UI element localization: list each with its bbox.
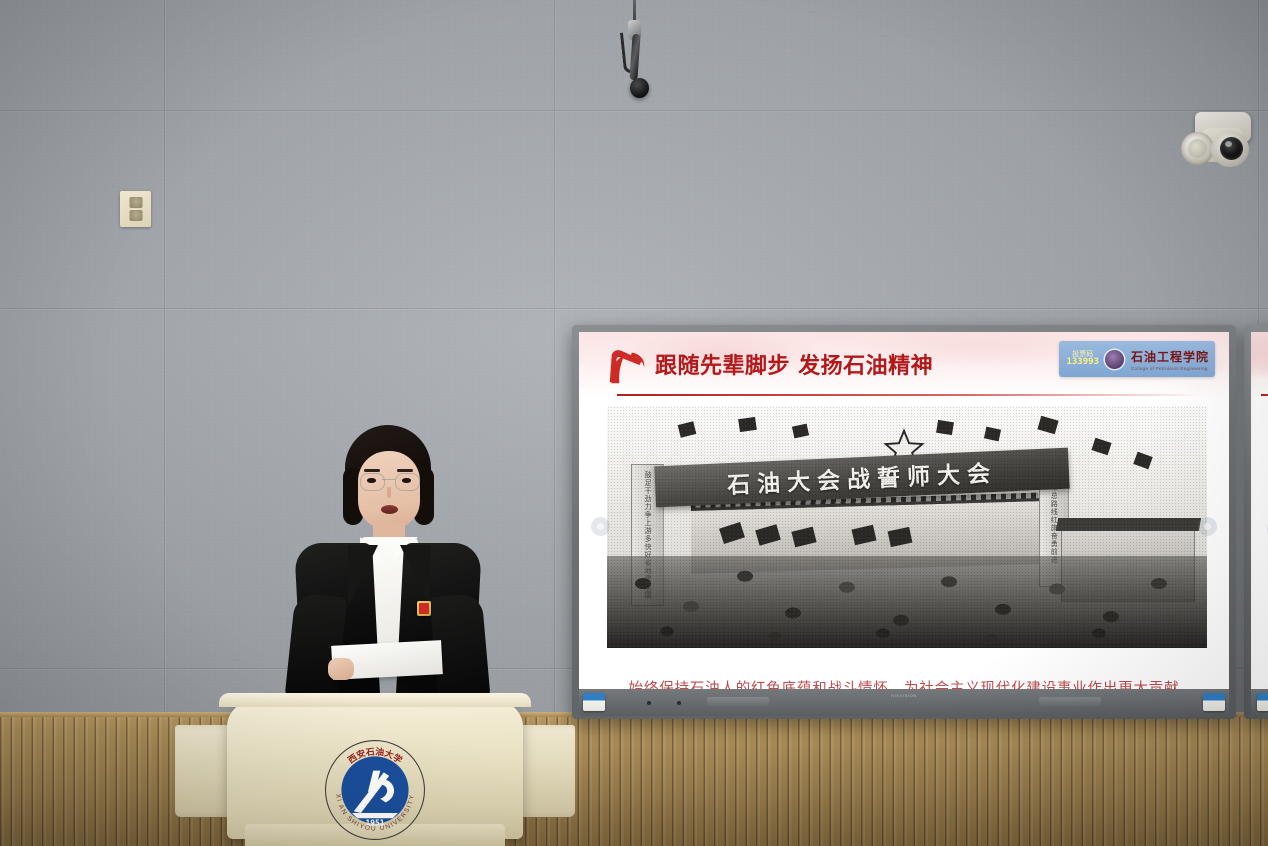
presentation-slide: 跟随先辈脚步 发扬石油精神 投票码 133993 石油工程学院 College … xyxy=(579,332,1229,712)
presenter-lapel xyxy=(400,545,430,607)
slide-divider-rule xyxy=(1261,394,1268,396)
screenshot-root: 跟随先辈脚步 发扬石油精神 投票码 133993 石油工程学院 College … xyxy=(0,0,1268,846)
photo-film-grain xyxy=(607,406,1207,648)
asset-sticker-left xyxy=(583,693,605,711)
display-bottom-bezel: HIKVISION · · · · · · · xyxy=(579,689,1229,716)
vote-code-block: 投票码 133993 xyxy=(1066,351,1099,368)
security-camera xyxy=(1181,112,1253,168)
college-name-block: 石油工程学院 College of Petroleum Engineering xyxy=(1130,348,1209,371)
lectern-top-lip xyxy=(219,693,531,707)
display-brand-dots: · · · · · · · xyxy=(879,700,929,705)
presenter-eye xyxy=(402,478,411,483)
slide-title: 跟随先辈脚步 发扬石油精神 xyxy=(655,348,933,380)
presenter-lapel xyxy=(348,545,378,607)
presenter-mouth xyxy=(381,505,398,514)
wall-outlet[interactable] xyxy=(120,191,151,227)
outlet-socket xyxy=(129,210,142,221)
secondary-display-bezel xyxy=(1251,689,1268,716)
display-screen[interactable]: 跟随先辈脚步 发扬石油精神 投票码 133993 石油工程学院 College … xyxy=(579,332,1229,712)
vote-code-value: 133993 xyxy=(1066,358,1099,367)
microphone-body xyxy=(629,34,640,80)
secondary-display[interactable] xyxy=(1244,325,1268,719)
asset-sticker-right xyxy=(1203,693,1225,711)
camera-ir-module xyxy=(1181,132,1214,165)
previous-slide-control[interactable] xyxy=(591,517,610,536)
party-emblem-pin-icon xyxy=(417,601,431,616)
speaker-vent xyxy=(707,697,769,706)
presenter-eyebrow xyxy=(364,469,380,472)
presenter xyxy=(288,425,488,725)
speaker-vent xyxy=(1039,697,1101,706)
slide-header-blobs xyxy=(1251,332,1268,412)
power-led-icon xyxy=(677,701,681,705)
hanging-microphone xyxy=(618,0,654,106)
camera-lens xyxy=(1220,137,1243,160)
ir-receiver-icon xyxy=(647,701,651,705)
presenter-eye xyxy=(367,478,376,483)
lectern: 1951 西安石油大学 XI AN SHIYOU UNIVERSITY xyxy=(175,693,575,846)
presenter-eyebrow xyxy=(397,469,413,472)
display-brand: HIKVISION xyxy=(891,693,917,698)
secondary-display-screen[interactable] xyxy=(1251,332,1268,712)
next-slide-control[interactable] xyxy=(1198,517,1217,536)
glasses-bridge xyxy=(382,479,395,480)
presenter-nose xyxy=(387,487,391,498)
vote-code-badge: 投票码 133993 石油工程学院 College of Petroleum E… xyxy=(1059,341,1215,377)
college-name-en: College of Petroleum Engineering xyxy=(1131,366,1209,371)
party-emblem-icon xyxy=(603,344,649,388)
college-name-cn: 石油工程学院 xyxy=(1131,348,1209,365)
presenter-hand xyxy=(328,658,354,680)
asset-sticker xyxy=(1257,693,1268,711)
interactive-flat-panel-display[interactable]: 跟随先辈脚步 发扬石油精神 投票码 133993 石油工程学院 College … xyxy=(572,325,1236,719)
historical-photo: 鼓足干劲力争上游多快好省地建设国 高举总路线红旗奋勇前进 石油大会战誓师大会 xyxy=(607,406,1207,648)
outlet-socket xyxy=(129,197,142,208)
university-seal-icon xyxy=(1105,350,1124,369)
secondary-slide xyxy=(1251,332,1268,712)
slide-divider-rule xyxy=(617,394,1203,396)
university-emblem: 1951 西安石油大学 XI AN SHIYOU UNIVERSITY xyxy=(322,737,428,843)
microphone-capsule xyxy=(630,78,649,98)
